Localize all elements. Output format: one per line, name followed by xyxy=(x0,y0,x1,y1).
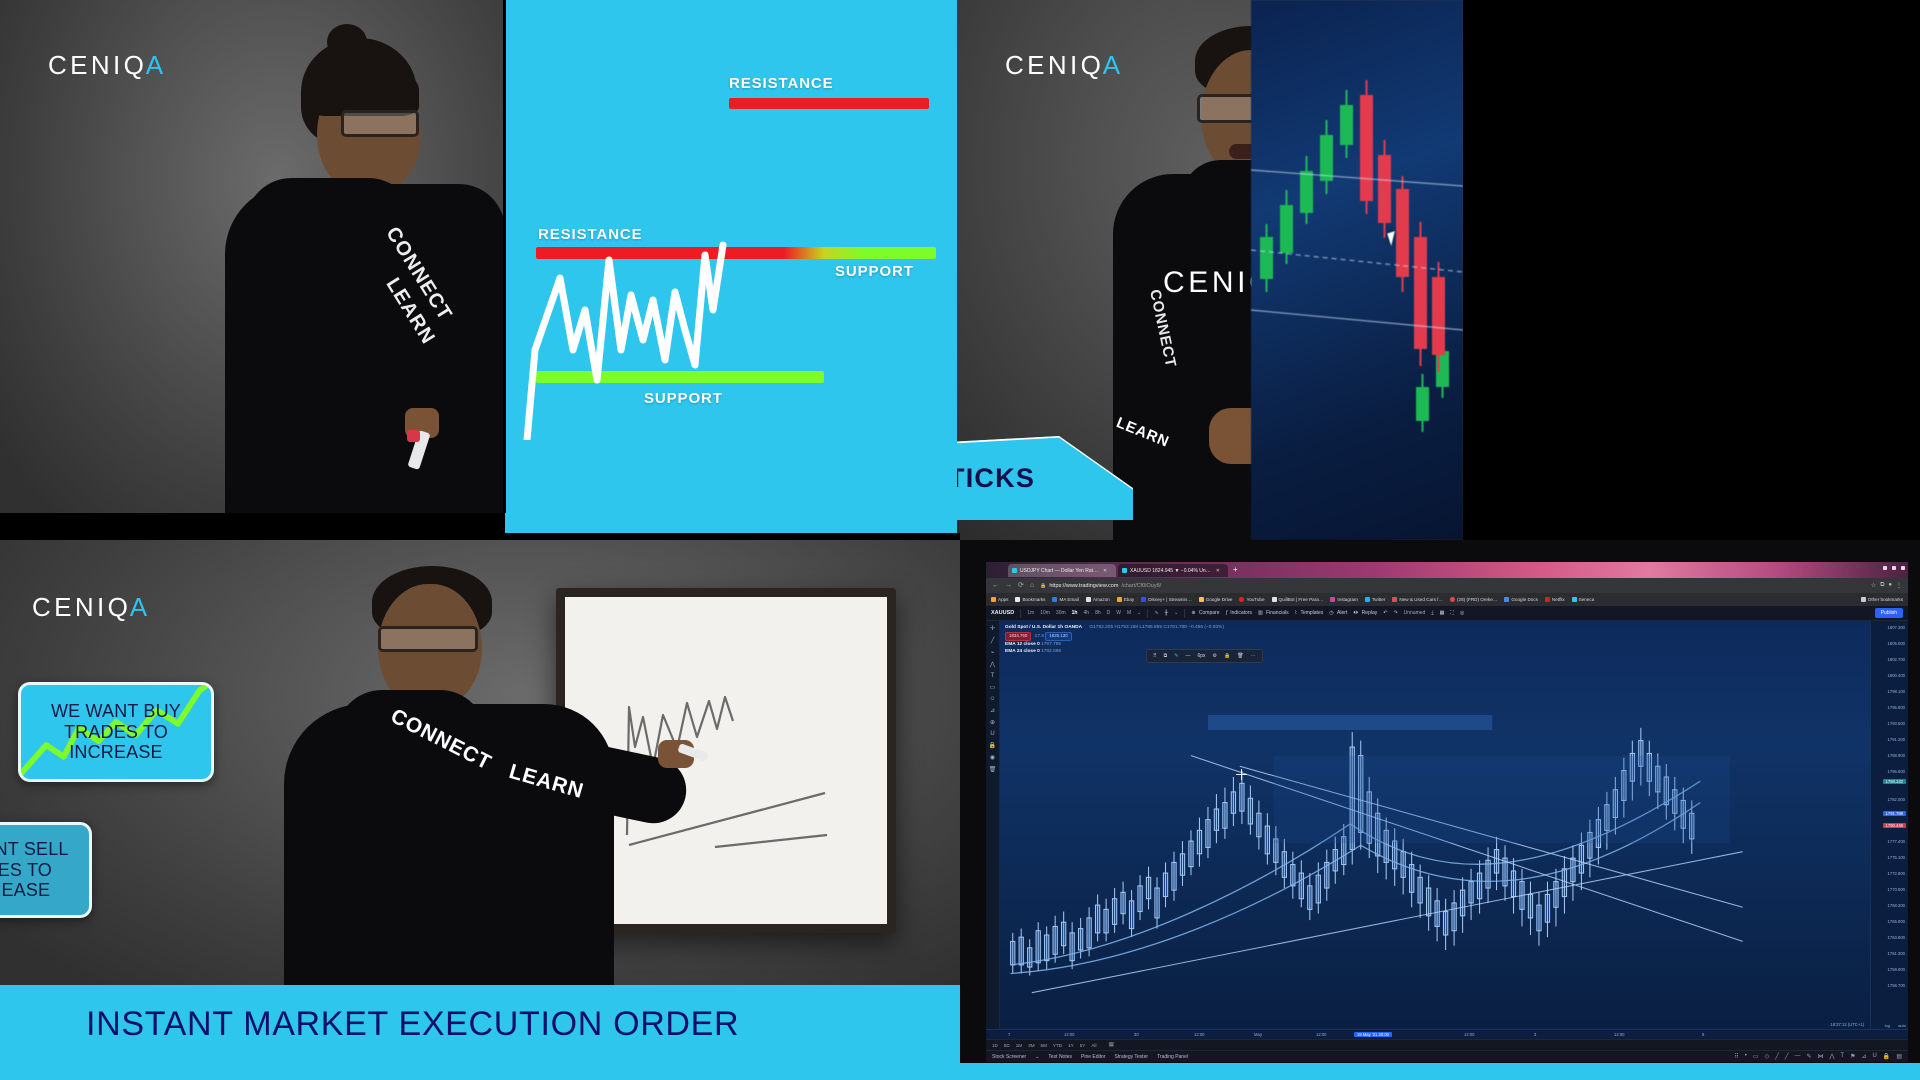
layout-icon[interactable]: ▦ xyxy=(1440,610,1445,616)
buy-bubble-text: WE WANT BUY TRADES TO INCREASE xyxy=(51,701,181,763)
sell-bubble-text: WE WANT SELL TRADES TO DECREASE xyxy=(0,839,69,901)
fib-tool-icon[interactable]: ⌁ xyxy=(991,649,995,656)
pencil-icon[interactable]: ✎ xyxy=(1806,1053,1811,1060)
compare-button[interactable]: ⊕ Compare xyxy=(1191,610,1219,616)
menu-icon[interactable]: ⋮ xyxy=(1896,582,1902,589)
fib-icon[interactable]: ⋈ xyxy=(1817,1053,1823,1060)
panel-top-left: CENIQA CONNECT LEARN xyxy=(0,0,505,513)
candles-icon[interactable]: ╫ xyxy=(1165,610,1169,616)
strategy-tester-button[interactable]: Strategy Tester xyxy=(1114,1054,1148,1060)
browser-tab-usdjpy[interactable]: USDJPY Chart — Dollar Yen Rat… ✕ xyxy=(1008,564,1116,577)
interval-w[interactable]: W xyxy=(1116,610,1121,616)
back-icon[interactable]: ← xyxy=(992,582,999,589)
bookmark-oreke[interactable]: (28) (FRD) Oreke… xyxy=(1450,597,1497,602)
redo-icon[interactable]: ↷ xyxy=(1393,610,1397,616)
current-time-tag: 18 May '21 20:00 xyxy=(1354,1032,1392,1037)
price-chart[interactable]: Gold Spot / U.S. Dollar 1h OANDA O1792.2… xyxy=(1000,621,1870,1029)
maximize-icon[interactable] xyxy=(1892,566,1896,570)
panel-support-resistance: RESISTANCE RESISTANCE SUPPORT SUPPORT xyxy=(505,0,957,540)
price-tick: 1775.100 xyxy=(1888,855,1905,860)
zoom-tool-icon[interactable]: ⊕ xyxy=(990,719,995,726)
dot-icon[interactable]: • xyxy=(1745,1053,1747,1060)
bookmark-amazon[interactable]: Amazon xyxy=(1086,597,1110,602)
bookmark-netflix[interactable]: Netflix xyxy=(1545,597,1565,602)
price-tick: 1795.800 xyxy=(1888,705,1905,710)
close-icon[interactable]: ✕ xyxy=(1103,568,1107,574)
address-bar[interactable]: 🔒 https://www.tradingview.com/chart/Cf0i… xyxy=(1040,583,1865,589)
tv-body: ✛ ╱ ⌁ ⋀ T ▭ ☺ ⊿ ⊕ U 🔒 ◉ 🗑 xyxy=(986,621,1908,1029)
bookmark-ma-email[interactable]: MA Email xyxy=(1052,597,1078,602)
price-tick: 1791.200 xyxy=(1888,737,1905,742)
divider xyxy=(1147,609,1148,618)
lock-icon[interactable]: 🔒 xyxy=(1883,1053,1890,1060)
replay-button[interactable]: ⏴⏵ Replay xyxy=(1353,610,1377,616)
star-icon[interactable]: ☆ xyxy=(1871,582,1876,589)
indicators-button[interactable]: ƒIndicators xyxy=(1225,610,1251,616)
bars-icon[interactable]: ▤ xyxy=(1896,1053,1902,1060)
bookmarks-bar: Apps Bookmarks MA Email Amazon Ebay Disn… xyxy=(986,593,1908,606)
time-scale[interactable]: 7 12:00 30 12:00 May 12:00 18 May '21 20… xyxy=(986,1029,1908,1039)
resistance-bar-top xyxy=(729,98,929,109)
range-all[interactable]: All xyxy=(1091,1043,1096,1048)
logo-mark: A xyxy=(146,50,163,81)
emoji-tool-icon[interactable]: ☺ xyxy=(989,696,995,702)
minimize-icon[interactable] xyxy=(1883,566,1887,570)
calendar-icon[interactable]: 🗓 xyxy=(1108,1042,1114,1048)
measure-icon[interactable]: ⊿ xyxy=(1861,1053,1866,1060)
price-tag-red: 1790.446 xyxy=(1883,823,1906,828)
grid-seam-horizontal xyxy=(0,533,960,540)
bookmark-google-drive[interactable]: Google Drive xyxy=(1199,597,1233,602)
tab-favicon xyxy=(1122,568,1127,573)
time-tick: 6 xyxy=(1702,1032,1704,1037)
interval-d[interactable]: D xyxy=(1107,610,1111,616)
interval-1m[interactable]: 1m xyxy=(1027,610,1034,616)
price-tick: 1777.400 xyxy=(1888,839,1905,844)
panel-whiteboard: CENIQA CONNECT LEARN xyxy=(0,540,960,985)
price-tag-teal: 1794.132 xyxy=(1883,779,1906,784)
shapes-tool-icon[interactable]: ▭ xyxy=(990,684,996,691)
text-notes-button[interactable]: Text Notes xyxy=(1048,1054,1072,1060)
time-tick: 12:00 xyxy=(1464,1032,1474,1037)
tv-bottom-bar: Stock Screener ⌄ Text Notes Pine Editor … xyxy=(986,1050,1908,1062)
price-tick: 1802.700 xyxy=(1888,657,1905,662)
glasses-icon xyxy=(378,626,478,652)
symbol-search[interactable]: XAUUSD xyxy=(991,610,1014,616)
time-tick: 12:00 xyxy=(1316,1032,1326,1037)
bookmark-instagram[interactable]: Instagram xyxy=(1330,597,1357,602)
drawing-tools-rail: ✛ ╱ ⌁ ⋀ T ▭ ☺ ⊿ ⊕ U 🔒 ◉ 🗑 xyxy=(986,621,1000,1029)
undo-icon[interactable]: ↶ xyxy=(1383,610,1387,616)
price-tick: 1772.800 xyxy=(1888,871,1905,876)
time-tick: 30 xyxy=(1134,1032,1139,1037)
bookmark-disney[interactable]: Disney+ | Streamin… xyxy=(1141,597,1191,602)
close-icon[interactable]: ✕ xyxy=(1216,568,1220,574)
interval-1h[interactable]: 1h xyxy=(1072,610,1078,616)
ray-icon[interactable]: ╱ xyxy=(1785,1053,1789,1060)
bookmark-ebay[interactable]: Ebay xyxy=(1117,597,1134,602)
price-tick: 1763.600 xyxy=(1888,935,1905,940)
panel-top-right: CENIQA CENIQA CONNECT LEARN xyxy=(957,0,1463,540)
magnet-icon[interactable]: U xyxy=(1873,1053,1877,1060)
logo-text: CENIQ xyxy=(48,50,147,81)
hide-tool-icon[interactable]: ◉ xyxy=(990,754,995,761)
measure-tool-icon[interactable]: ⊿ xyxy=(990,707,995,714)
price-tick: 1800.400 xyxy=(1888,673,1905,678)
url-origin: https://www.tradingview.com xyxy=(1049,583,1118,589)
browser-tabstrip: USDJPY Chart — Dollar Yen Rat… ✕ XAUUSD … xyxy=(986,562,1908,578)
price-tick: 1793.500 xyxy=(1888,721,1905,726)
chart-type-icon[interactable]: ∿ xyxy=(1154,610,1158,616)
range-6m[interactable]: 6M xyxy=(1041,1043,1047,1048)
chevron-down-icon[interactable]: ⌄ xyxy=(1035,1054,1039,1060)
price-tick: 1770.500 xyxy=(1888,887,1905,892)
range-5d[interactable]: 5D xyxy=(1004,1043,1010,1048)
sell-bubble: WE WANT SELL TRADES TO DECREASE xyxy=(0,822,92,918)
tab-title: XAUUSD 1824.945 ▼ −0.04% Un… xyxy=(1130,568,1211,574)
grid-seam-vertical xyxy=(503,0,506,513)
candlestick-series xyxy=(1000,621,1870,1029)
time-tick: 12:00 xyxy=(1064,1032,1074,1037)
trading-panel-button[interactable]: Trading Panel xyxy=(1157,1054,1188,1060)
label-resistance-top: RESISTANCE xyxy=(729,75,834,92)
buy-bubble: WE WANT BUY TRADES TO INCREASE xyxy=(18,682,214,782)
price-tick: 1788.900 xyxy=(1888,753,1905,758)
banner-label: INSTANT MARKET EXECUTION ORDER xyxy=(86,1005,739,1044)
fullscreen-icon[interactable]: ⛶ xyxy=(1450,610,1454,616)
time-tick: 12:00 xyxy=(1614,1032,1624,1037)
tab-title: USDJPY Chart — Dollar Yen Rat… xyxy=(1020,568,1098,574)
price-tick: 1798.100 xyxy=(1888,689,1905,694)
glasses-icon xyxy=(341,110,419,137)
range-1d[interactable]: 1D xyxy=(992,1043,998,1048)
pattern-tool-icon[interactable]: ⋀ xyxy=(990,661,995,668)
range-3m[interactable]: 3M xyxy=(1028,1043,1034,1048)
bookmark-seneca[interactable]: Seneca xyxy=(1572,597,1595,602)
bottom-tool-icons[interactable]: ⠿ • ▭ ◇ ╱ ╱ — ✎ ⋈ ⋀ T ⚑ ⊿ U 🔒 ▤ xyxy=(1734,1053,1902,1060)
bottom-cyan-strip xyxy=(0,1063,1920,1080)
grid-handle-icon[interactable]: ⠿ xyxy=(1734,1053,1738,1060)
stock-screener-button[interactable]: Stock Screener xyxy=(992,1054,1026,1060)
new-tab-button[interactable]: + xyxy=(1233,566,1238,574)
bookmark-quillbot[interactable]: QuillBot | Free Para… xyxy=(1272,597,1324,602)
interval-30m[interactable]: 30m xyxy=(1056,610,1066,616)
bookmark-twitter[interactable]: Twitter xyxy=(1365,597,1386,602)
browser-tab-xauusd[interactable]: XAUUSD 1824.945 ▼ −0.04% Un… ✕ xyxy=(1118,564,1228,577)
time-tick: 12:00 xyxy=(1194,1032,1204,1037)
horizontal-line-icon[interactable]: — xyxy=(1794,1053,1800,1060)
interval-m[interactable]: M xyxy=(1127,610,1131,616)
chevron-down-icon-2[interactable]: ⌄ xyxy=(1174,610,1178,616)
log-scale-toggle[interactable]: log xyxy=(1885,1023,1890,1028)
price-tick: 1786.600 xyxy=(1888,769,1905,774)
magnet-tool-icon[interactable]: U xyxy=(990,731,994,737)
lock-tool-icon[interactable]: 🔒 xyxy=(989,742,996,749)
presenter-at-whiteboard: CONNECT LEARN xyxy=(326,562,756,985)
price-tick: 1761.300 xyxy=(1888,951,1905,956)
panel-tradingview: USDJPY Chart — Dollar Yen Rat… ✕ XAUUSD … xyxy=(960,540,1920,1063)
candlestick-wall-display xyxy=(1251,0,1463,540)
profile-icon[interactable]: ● xyxy=(1888,582,1892,589)
text-tool-icon[interactable]: T xyxy=(991,673,995,679)
price-tick: 1807.300 xyxy=(1888,625,1905,630)
trendline-tool-icon[interactable]: ╱ xyxy=(991,637,995,644)
browser-window: USDJPY Chart — Dollar Yen Rat… ✕ XAUUSD … xyxy=(986,562,1908,1062)
price-tag-blue: 1791.789 xyxy=(1883,811,1906,816)
layout-name[interactable]: Unnamed xyxy=(1404,610,1426,616)
home-icon[interactable]: ⌂ xyxy=(1030,582,1034,589)
financials-button[interactable]: ▥ Financials xyxy=(1258,610,1289,616)
camera-icon[interactable]: ◎ xyxy=(1460,610,1464,616)
urlbar-actions[interactable]: ☆ ⧉ ● ⋮ xyxy=(1871,582,1902,589)
rectangle-icon[interactable]: ▭ xyxy=(1753,1053,1759,1060)
bookmark-cars[interactable]: New & Used Cars f… xyxy=(1392,597,1443,602)
bookmark-apps[interactable]: Apps xyxy=(991,597,1008,602)
flag-icon[interactable]: ⚑ xyxy=(1850,1053,1855,1060)
close-window-icon[interactable] xyxy=(1901,566,1905,570)
tab-favicon xyxy=(1012,568,1017,573)
price-scale[interactable]: 1807.300 1805.000 1802.700 1800.400 1798… xyxy=(1870,621,1908,1029)
price-tick: 1756.700 xyxy=(1888,983,1905,988)
price-tick: 1782.000 xyxy=(1888,797,1905,802)
candlesticks-label: CANDLESTICKS xyxy=(957,463,1035,494)
video-grid: CENIQA CONNECT LEARN RESISTANCE RESISTAN… xyxy=(0,0,1920,1080)
bookmark-bookmarks[interactable]: Bookmarks xyxy=(1015,597,1045,602)
logo-mark: A xyxy=(130,592,147,623)
zigzag-price-line xyxy=(505,200,957,440)
trash-tool-icon[interactable]: 🗑 xyxy=(989,766,997,773)
tv-toolbar: XAUUSD 1m 10m 30m 1h 4h 8h D W M ⌄ ∿ ╫ ⌄… xyxy=(986,606,1908,621)
time-tick: May xyxy=(1254,1032,1262,1037)
lock-icon: 🔒 xyxy=(1040,583,1046,589)
save-icon[interactable]: ⤓ xyxy=(1431,610,1433,616)
pattern-icon[interactable]: ⋀ xyxy=(1829,1053,1834,1060)
divider xyxy=(1184,609,1185,618)
bookmark-google-docs[interactable]: Google Docs xyxy=(1504,597,1538,602)
instant-market-execution-banner: INSTANT MARKET EXECUTION ORDER xyxy=(0,985,960,1063)
ceniqa-logo-bottom-left: CENIQA xyxy=(32,592,147,623)
alert-button[interactable]: ◷ Alert xyxy=(1329,610,1347,616)
price-tick: 1768.200 xyxy=(1888,903,1905,908)
interval-8h[interactable]: 8h xyxy=(1095,610,1101,616)
time-tick: 3 xyxy=(1534,1032,1536,1037)
date-range-bar: 1D 5D 1M 3M 6M YTD 1Y 5Y All 🗓 xyxy=(986,1039,1908,1050)
range-1y[interactable]: 1Y xyxy=(1068,1043,1074,1048)
interval-10m[interactable]: 10m xyxy=(1040,610,1050,616)
window-controls[interactable] xyxy=(1883,566,1905,570)
forward-icon[interactable]: → xyxy=(1005,582,1012,589)
bookmark-youtube[interactable]: YouTube xyxy=(1239,597,1264,602)
ceniqa-logo: CENIQA xyxy=(48,50,163,81)
text-icon[interactable]: T xyxy=(1840,1053,1844,1060)
watermark-timestamp: 18:37:12 (UTC+1) xyxy=(1830,1022,1864,1027)
price-tick: 1765.900 xyxy=(1888,919,1905,924)
eraser-icon[interactable]: ◇ xyxy=(1765,1053,1770,1060)
auto-scale-toggle[interactable]: auto xyxy=(1898,1023,1906,1028)
chevron-down-icon[interactable]: ⌄ xyxy=(1137,610,1141,616)
range-5y[interactable]: 5Y xyxy=(1080,1043,1086,1048)
url-path: /chart/Cf0iOuy8/ xyxy=(1121,583,1161,589)
logo-text: CENIQ xyxy=(32,592,131,623)
pine-editor-button[interactable]: Pine Editor xyxy=(1081,1054,1105,1060)
range-ytd[interactable]: YTD xyxy=(1053,1043,1062,1048)
other-bookmarks[interactable]: Other bookmarks xyxy=(1861,597,1903,602)
presenter-figure: CONNECT LEARN xyxy=(255,38,505,513)
price-tick: 1805.000 xyxy=(1888,641,1905,646)
divider xyxy=(1020,609,1021,618)
trendline-icon[interactable]: ╱ xyxy=(1775,1053,1779,1060)
price-tick: 1759.000 xyxy=(1888,967,1905,972)
publish-button[interactable]: Publish xyxy=(1875,608,1903,618)
time-tick: 7 xyxy=(1008,1032,1010,1037)
browser-urlbar: ← → ⟳ ⌂ 🔒 https://www.tradingview.com/ch… xyxy=(986,578,1908,593)
cursor-tool-icon[interactable]: ✛ xyxy=(990,625,995,632)
reload-icon[interactable]: ⟳ xyxy=(1018,582,1024,589)
templates-button[interactable]: ⌇ Templates xyxy=(1295,610,1324,616)
range-1m[interactable]: 1M xyxy=(1016,1043,1022,1048)
interval-4h[interactable]: 4h xyxy=(1084,610,1090,616)
extensions-icon[interactable]: ⧉ xyxy=(1880,582,1884,589)
